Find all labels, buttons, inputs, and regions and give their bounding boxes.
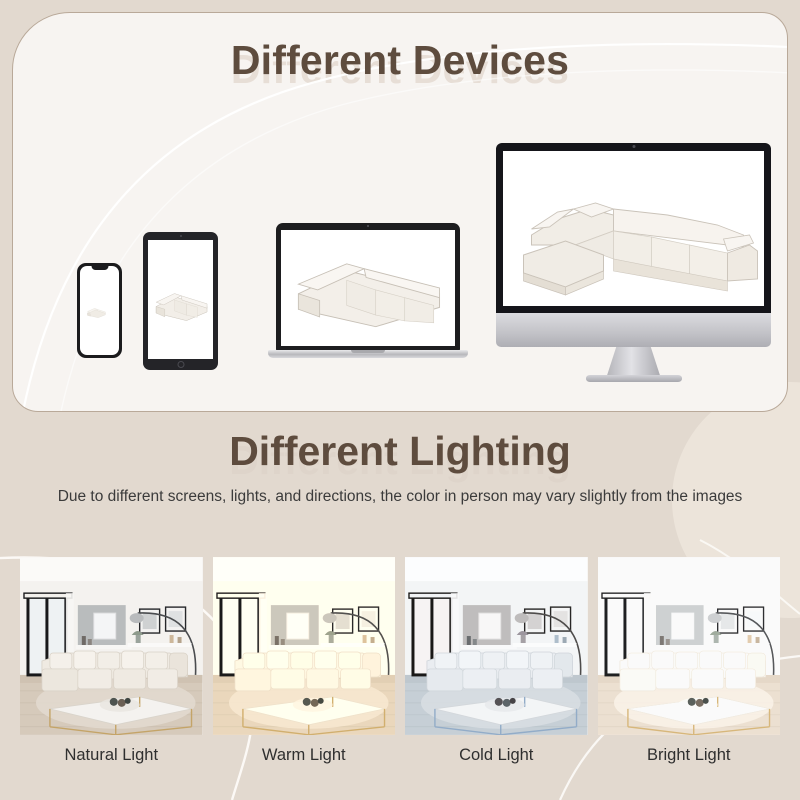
lighting-thumb-natural[interactable]: Natural Light: [20, 557, 203, 764]
lighting-thumb-cold[interactable]: Cold Light: [405, 557, 588, 764]
thumbnail-image[interactable]: [598, 557, 781, 735]
thumbnail-label: Natural Light: [20, 747, 203, 764]
monitor-lid: [496, 143, 771, 313]
thumbnail-image[interactable]: [213, 557, 396, 735]
monitor-sofa-image: [503, 151, 764, 306]
devices-title-wrap: Different Devices Different Devices: [13, 39, 787, 82]
device-tablet: [143, 232, 218, 370]
laptop-base: [268, 350, 468, 358]
room-scene: [598, 557, 781, 735]
laptop-screen: [281, 230, 455, 346]
lighting-thumbnail-row: Natural Light: [20, 557, 780, 764]
laptop-notch-icon: [351, 350, 385, 353]
laptop-camera-icon: [367, 225, 369, 227]
phone-screen: [80, 266, 119, 355]
laptop-lid: [276, 223, 460, 351]
tablet-home-button[interactable]: [177, 361, 184, 368]
monitor-camera-icon: [632, 145, 635, 148]
devices-title-text: Different Devices: [231, 37, 569, 83]
device-phone: [77, 263, 122, 358]
thumbnail-image[interactable]: [20, 557, 203, 735]
lighting-subtitle: Due to different screens, lights, and di…: [55, 484, 745, 509]
thumbnail-label: Warm Light: [213, 747, 396, 764]
phone-sofa-image: [80, 266, 119, 355]
lighting-thumb-bright[interactable]: Bright Light: [598, 557, 781, 764]
monitor-stand-neck: [607, 347, 661, 377]
device-monitor: [496, 143, 771, 373]
lighting-title-wrap: Different Lighting Different Lighting: [0, 430, 800, 473]
thumbnail-label: Cold Light: [405, 747, 588, 764]
room-scene: [20, 557, 203, 735]
monitor-screen: [503, 151, 764, 306]
monitor-chin: [496, 313, 771, 347]
room-scene: [213, 557, 396, 735]
lighting-title-text: Different Lighting: [229, 428, 571, 474]
laptop-sofa-image: [281, 230, 455, 346]
lighting-title: Different Lighting Different Lighting: [229, 430, 571, 473]
room-scene: [405, 557, 588, 735]
monitor-stand-foot: [586, 375, 682, 382]
tablet-screen: [148, 240, 213, 359]
lighting-thumb-warm[interactable]: Warm Light: [213, 557, 396, 764]
thumbnail-image[interactable]: [405, 557, 588, 735]
tablet-camera-icon: [180, 235, 182, 237]
different-devices-card: Different Devices Different Devices: [12, 12, 788, 412]
device-laptop: [268, 223, 468, 368]
tablet-sofa-image: [148, 240, 213, 359]
thumbnail-label: Bright Light: [598, 747, 781, 764]
devices-title: Different Devices Different Devices: [231, 39, 569, 82]
